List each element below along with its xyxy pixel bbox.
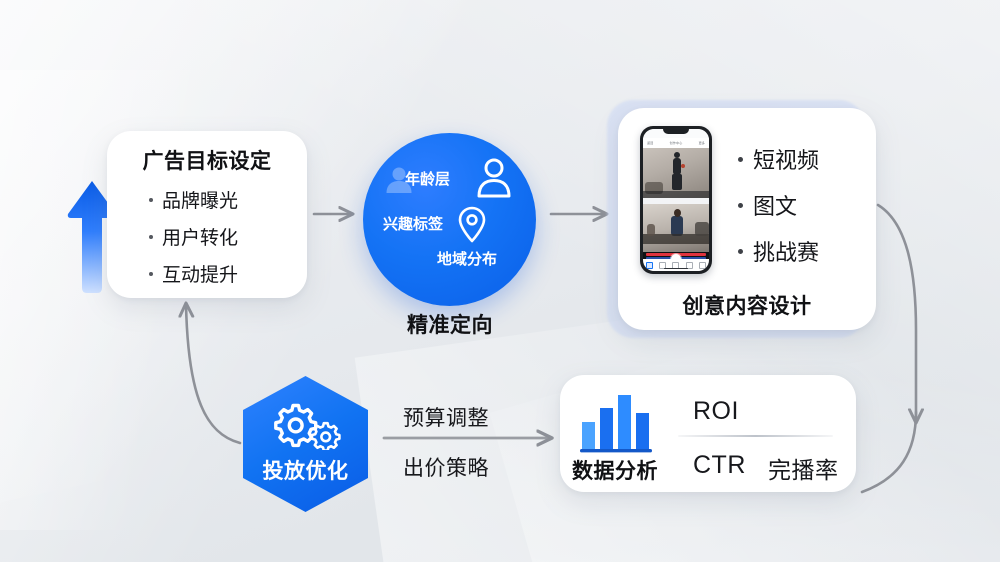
targeting-label-region: 地域分布 <box>437 248 497 269</box>
figure-head <box>674 152 680 158</box>
content-item-label: 挑战赛 <box>753 235 819 267</box>
phone-video-clip-bottom[interactable] <box>643 204 709 252</box>
phone-bottom-nav[interactable] <box>643 259 709 271</box>
goal-item-label: 品牌曝光 <box>162 186 238 213</box>
phone-notch <box>663 129 689 134</box>
metric-ctr: CTR <box>693 451 746 480</box>
phone-home-indicator <box>664 268 688 270</box>
phone-video-clip-top[interactable] <box>643 148 709 198</box>
data-analysis-card[interactable]: 数据分析 ROI CTR 完播率 <box>560 375 856 492</box>
goal-item-label: 用户转化 <box>162 223 238 250</box>
phone-screen: 返回 创作中心 更多 <box>643 129 709 271</box>
figure-prop <box>681 164 685 168</box>
goal-item-label: 互动提升 <box>162 260 238 287</box>
figure-head <box>674 209 681 217</box>
person-outline-icon <box>472 155 516 201</box>
phone-topbar-title: 创作中心 <box>670 141 683 145</box>
campaign-flow-diagram: 广告目标设定 品牌曝光 用户转化 互动提升 <box>0 0 1000 562</box>
metric-roi: ROI <box>693 397 739 426</box>
scene-object <box>695 222 709 236</box>
goal-list-item[interactable]: 互动提升 <box>149 255 238 292</box>
location-pin-icon <box>455 205 489 245</box>
phone-mockup[interactable]: 返回 创作中心 更多 <box>640 126 712 274</box>
bullet-dot-icon <box>149 235 153 239</box>
figure-legs <box>672 174 682 190</box>
goal-card-title: 广告目标设定 <box>107 145 307 175</box>
bullet-dot-icon <box>149 198 153 202</box>
targeting-label-interest: 兴趣标签 <box>383 213 443 234</box>
metric-divider <box>678 435 833 437</box>
targeting-label-age: 年龄层 <box>405 168 450 189</box>
goal-list: 品牌曝光 用户转化 互动提升 <box>149 181 238 292</box>
bullet-dot-icon <box>149 272 153 276</box>
goal-card[interactable]: 广告目标设定 品牌曝光 用户转化 互动提升 <box>107 131 307 298</box>
phone-clip-caption <box>643 191 709 198</box>
bullet-dot-icon <box>738 203 743 208</box>
profile-icon[interactable] <box>699 262 706 269</box>
figure-torso <box>671 216 683 236</box>
content-item-label: 短视频 <box>753 143 819 175</box>
targeting-caption: 精准定向 <box>340 309 560 339</box>
gears-icon <box>271 398 341 450</box>
goal-list-item[interactable]: 品牌曝光 <box>149 181 238 218</box>
optimization-side-text-bid: 出价策略 <box>403 452 489 482</box>
optimization-label: 投放优化 <box>243 455 368 485</box>
content-item-label: 图文 <box>753 189 797 221</box>
data-analysis-label: 数据分析 <box>572 455 658 485</box>
content-card-caption: 创意内容设计 <box>630 290 864 320</box>
home-icon[interactable] <box>646 262 653 269</box>
bar-chart-icon <box>578 392 654 454</box>
content-bullet-list: 短视频 图文 挑战赛 <box>738 136 819 274</box>
bullet-dot-icon <box>738 157 743 162</box>
optimization-side-text-budget: 预算调整 <box>403 402 489 432</box>
content-list-item[interactable]: 短视频 <box>738 136 819 182</box>
phone-topbar-left: 返回 <box>647 141 653 145</box>
goal-list-item[interactable]: 用户转化 <box>149 218 238 255</box>
metric-completion-rate: 完播率 <box>768 451 839 485</box>
bullet-dot-icon <box>738 249 743 254</box>
content-list-item[interactable]: 图文 <box>738 182 819 228</box>
connector-optimization-to-goal <box>186 304 240 443</box>
phone-topbar: 返回 创作中心 更多 <box>643 138 709 148</box>
content-card[interactable]: 返回 创作中心 更多 <box>618 108 876 330</box>
content-list-item[interactable]: 挑战赛 <box>738 228 819 274</box>
phone-topbar-right: 更多 <box>699 141 705 145</box>
scene-object <box>647 224 655 236</box>
optimization-hexagon[interactable]: 投放优化 <box>243 376 368 512</box>
targeting-circle[interactable]: 年龄层 兴趣标签 地域分布 <box>363 133 536 306</box>
figure-torso <box>673 158 681 175</box>
